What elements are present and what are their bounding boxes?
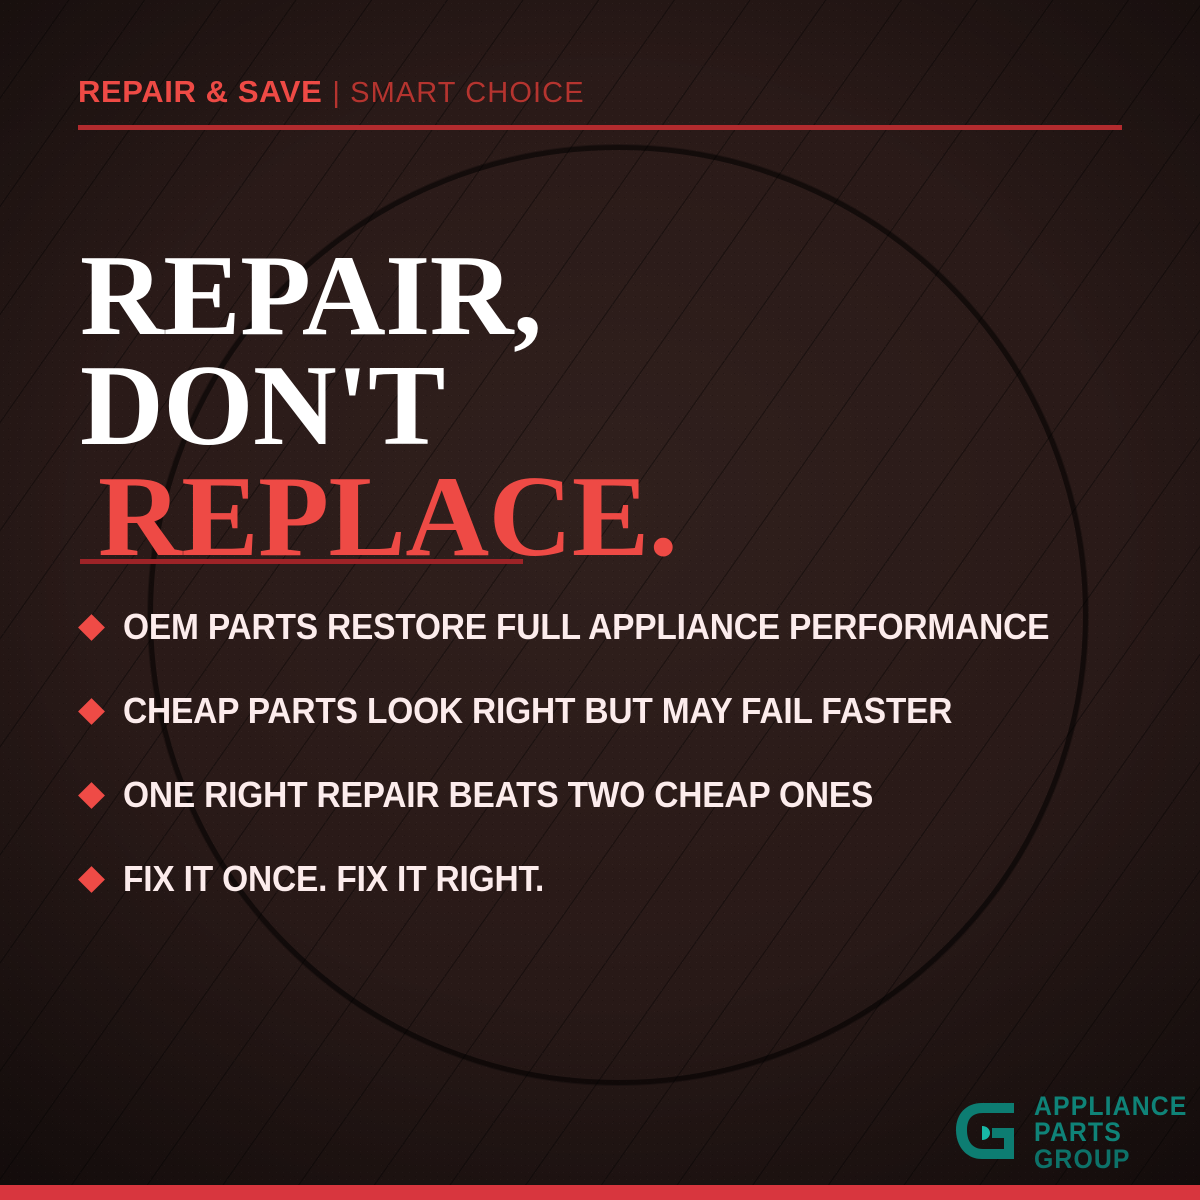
list-item: OEM PARTS RESTORE FULL APPLIANCE PERFORM… bbox=[80, 585, 1150, 669]
kicker-main-label: REPAIR & SAVE bbox=[78, 74, 322, 110]
appliance-parts-group-g-icon bbox=[948, 1097, 1020, 1169]
headline-line-1: REPAIR, bbox=[80, 241, 677, 352]
brand-logo-line-2: PARTS bbox=[1034, 1119, 1187, 1145]
headline-divider bbox=[80, 559, 523, 564]
diamond-bullet-icon bbox=[78, 698, 105, 725]
list-item-label: OEM PARTS RESTORE FULL APPLIANCE PERFORM… bbox=[123, 606, 1049, 648]
kicker: REPAIR & SAVE | SMART CHOICE bbox=[78, 74, 585, 110]
headline-line-3: REPLACE. bbox=[80, 462, 677, 573]
diamond-bullet-icon bbox=[78, 614, 105, 641]
diamond-bullet-icon bbox=[78, 782, 105, 809]
list-item-label: FIX IT ONCE. FIX IT RIGHT. bbox=[123, 858, 544, 900]
list-item-label: ONE RIGHT REPAIR BEATS TWO CHEAP ONES bbox=[123, 774, 873, 816]
list-item: ONE RIGHT REPAIR BEATS TWO CHEAP ONES bbox=[80, 753, 1150, 837]
list-item: FIX IT ONCE. FIX IT RIGHT. bbox=[80, 837, 1150, 921]
brand-logo: APPLIANCE PARTS GROUP bbox=[948, 1093, 1200, 1172]
bottom-accent-bar bbox=[0, 1185, 1200, 1200]
promo-poster: REPAIR & SAVE | SMART CHOICE REPAIR, DON… bbox=[0, 0, 1200, 1200]
diamond-bullet-icon bbox=[78, 866, 105, 893]
kicker-sub-label: | SMART CHOICE bbox=[332, 77, 584, 110]
brand-logo-line-1: APPLIANCE bbox=[1034, 1093, 1187, 1119]
kicker-divider bbox=[78, 125, 1122, 130]
headline-line-2: DON'T bbox=[80, 351, 677, 462]
benefit-list: OEM PARTS RESTORE FULL APPLIANCE PERFORM… bbox=[80, 585, 1150, 921]
list-item-label: CHEAP PARTS LOOK RIGHT BUT MAY FAIL FAST… bbox=[123, 690, 952, 732]
brand-logo-text: APPLIANCE PARTS GROUP bbox=[1034, 1093, 1187, 1172]
list-item: CHEAP PARTS LOOK RIGHT BUT MAY FAIL FAST… bbox=[80, 669, 1150, 753]
brand-logo-line-3: GROUP bbox=[1034, 1146, 1187, 1172]
page-title: REPAIR, DON'T REPLACE. bbox=[80, 241, 677, 573]
poster-content: REPAIR & SAVE | SMART CHOICE REPAIR, DON… bbox=[0, 0, 1200, 1200]
